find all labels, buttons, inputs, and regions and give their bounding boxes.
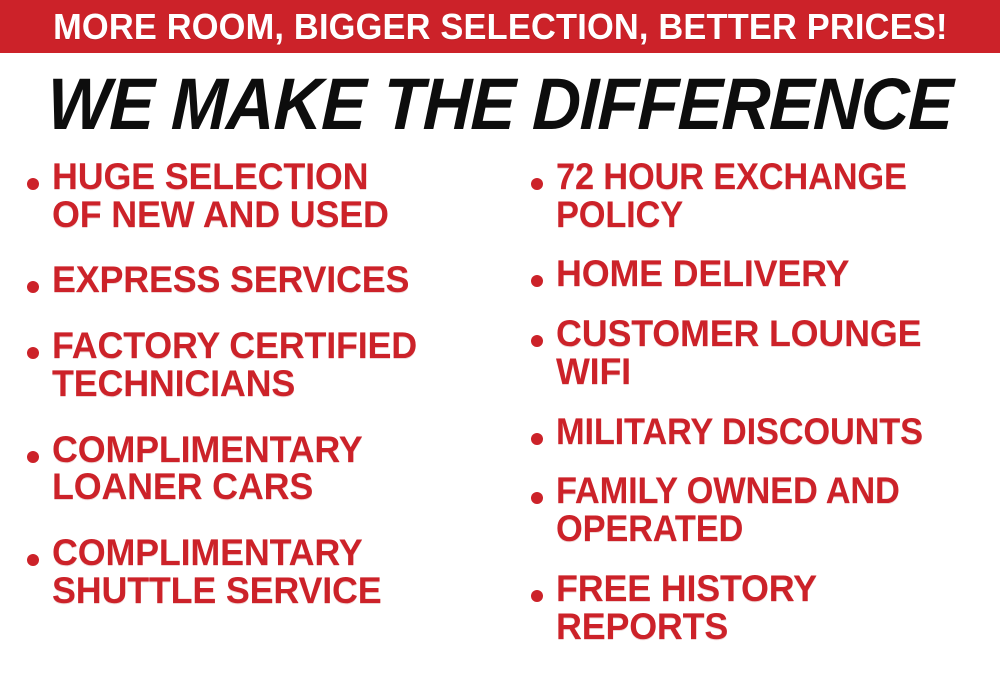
benefit-label: 72 HOUR EXCHANGE POLICY [556, 158, 969, 233]
bullet-dot-icon [531, 590, 543, 602]
benefit-label: FACTORY CERTIFIED TECHNICIANS [52, 327, 487, 402]
benefit-item: HUGE SELECTION OF NEW AND USED [14, 158, 500, 233]
bullet-dot-icon [27, 554, 39, 566]
benefit-item: FAMILY OWNED AND OPERATED [518, 472, 1000, 547]
benefit-label: HUGE SELECTION OF NEW AND USED [52, 158, 487, 233]
benefit-item: FACTORY CERTIFIED TECHNICIANS [14, 327, 500, 402]
benefits-columns: HUGE SELECTION OF NEW AND USED EXPRESS S… [0, 158, 1000, 694]
benefit-label: COMPLIMENTARY SHUTTLE SERVICE [52, 534, 487, 609]
bullet-dot-icon [27, 347, 39, 359]
benefit-item: COMPLIMENTARY SHUTTLE SERVICE [14, 534, 500, 609]
bullet-dot-icon [531, 433, 543, 445]
benefit-item: FREE HISTORY REPORTS [518, 570, 1000, 645]
bullet-dot-icon [531, 492, 543, 504]
banner-headline-text: MORE ROOM, BIGGER SELECTION, BETTER PRIC… [53, 9, 948, 45]
main-headline: WE MAKE THE DIFFERENCE [0, 68, 1000, 141]
bullet-dot-icon [27, 451, 39, 463]
benefit-label: FAMILY OWNED AND OPERATED [556, 472, 969, 547]
benefit-item: 72 HOUR EXCHANGE POLICY [518, 158, 1000, 233]
benefit-item: CUSTOMER LOUNGE WIFI [518, 315, 1000, 390]
dealership-benefits-poster: MORE ROOM, BIGGER SELECTION, BETTER PRIC… [0, 0, 1000, 694]
benefit-label: CUSTOMER LOUNGE WIFI [556, 315, 987, 390]
benefit-item: HOME DELIVERY [518, 255, 1000, 293]
benefit-label: FREE HISTORY REPORTS [556, 570, 987, 645]
benefit-item: MILITARY DISCOUNTS [518, 413, 1000, 451]
benefit-label: HOME DELIVERY [556, 255, 987, 293]
top-banner: MORE ROOM, BIGGER SELECTION, BETTER PRIC… [0, 0, 1000, 53]
bullet-dot-icon [531, 335, 543, 347]
bullet-dot-icon [27, 178, 39, 190]
benefit-label: EXPRESS SERVICES [52, 261, 487, 299]
benefit-item: EXPRESS SERVICES [14, 261, 500, 299]
bullet-dot-icon [27, 281, 39, 293]
main-headline-text: WE MAKE THE DIFFERENCE [46, 68, 953, 141]
bullet-dot-icon [531, 275, 543, 287]
benefit-item: COMPLIMENTARY LOANER CARS [14, 431, 500, 506]
bullet-dot-icon [531, 178, 543, 190]
benefits-column-right: 72 HOUR EXCHANGE POLICY HOME DELIVERY CU… [518, 158, 1000, 694]
benefit-label: COMPLIMENTARY LOANER CARS [52, 431, 487, 506]
benefit-label: MILITARY DISCOUNTS [556, 413, 969, 451]
benefits-column-left: HUGE SELECTION OF NEW AND USED EXPRESS S… [14, 158, 500, 694]
